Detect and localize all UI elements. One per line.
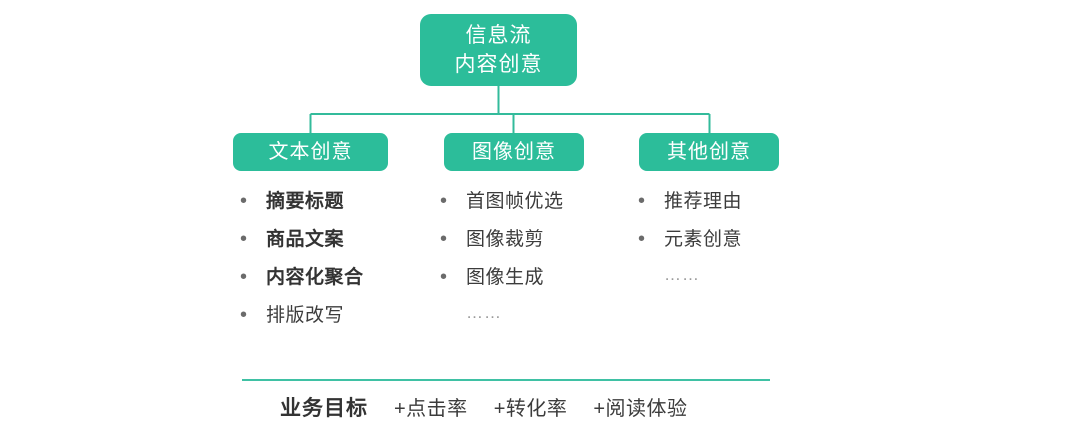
bullet-dot-icon: • [440,220,466,258]
list-item-label: 图像生成 [466,259,544,297]
list-item-label: 摘要标题 [266,183,344,221]
list-ellipsis: …… [638,258,828,292]
bullet-dot-icon: • [638,220,664,258]
business-goal-reading-experience: +阅读体验 [593,392,687,421]
bullet-dot-icon: • [638,182,664,220]
node-branch-text-creative: 文本创意 [233,133,388,171]
list-item: • 摘要标题 [240,182,430,220]
bullet-list-image-creative: • 首图帧优选 • 图像裁剪 • 图像生成 …… [440,182,630,330]
creative-taxonomy-diagram: 信息流 内容创意 文本创意 图像创意 其他创意 • 摘要标题 • 商品文案 • … [0,0,1080,440]
footer-divider [242,379,770,381]
list-item: • 元素创意 [638,220,828,258]
list-item-label: 元素创意 [664,221,742,259]
ellipsis-spacer [638,258,664,292]
list-item-label: 商品文案 [266,221,344,259]
list-item-label: 首图帧优选 [466,183,564,221]
bullet-dot-icon: • [240,258,266,296]
ellipsis-spacer [440,296,466,330]
bullet-dot-icon: • [240,296,266,334]
list-item: • 排版改写 [240,296,430,334]
list-item: • 图像裁剪 [440,220,630,258]
list-item: • 商品文案 [240,220,430,258]
list-item: • 图像生成 [440,258,630,296]
ellipsis-label: …… [664,258,700,292]
node-branch-other-creative: 其他创意 [639,133,779,171]
list-item: • 首图帧优选 [440,182,630,220]
list-item: • 推荐理由 [638,182,828,220]
bullet-dot-icon: • [440,258,466,296]
bullet-dot-icon: • [240,220,266,258]
bullet-list-text-creative: • 摘要标题 • 商品文案 • 内容化聚合 • 排版改写 [240,182,430,334]
bullet-dot-icon: • [440,182,466,220]
list-item-label: 排版改写 [266,297,344,335]
ellipsis-label: …… [466,296,502,330]
business-goals-row: 业务目标 +点击率 +转化率 +阅读体验 [242,392,842,422]
list-item: • 内容化聚合 [240,258,430,296]
business-goals-label: 业务目标 [280,392,368,422]
bullet-list-other-creative: • 推荐理由 • 元素创意 …… [638,182,828,292]
node-root-line-1: 信息流 [466,21,532,50]
business-goal-cvr: +转化率 [494,392,568,421]
list-item-label: 图像裁剪 [466,221,544,259]
list-ellipsis: …… [440,296,630,330]
bullet-dot-icon: • [240,182,266,220]
node-root-line-2: 内容创意 [455,50,543,79]
node-root: 信息流 内容创意 [420,14,577,86]
list-item-label: 推荐理由 [664,183,742,221]
node-branch-image-creative: 图像创意 [444,133,584,171]
business-goal-ctr: +点击率 [394,392,468,421]
list-item-label: 内容化聚合 [266,259,364,297]
